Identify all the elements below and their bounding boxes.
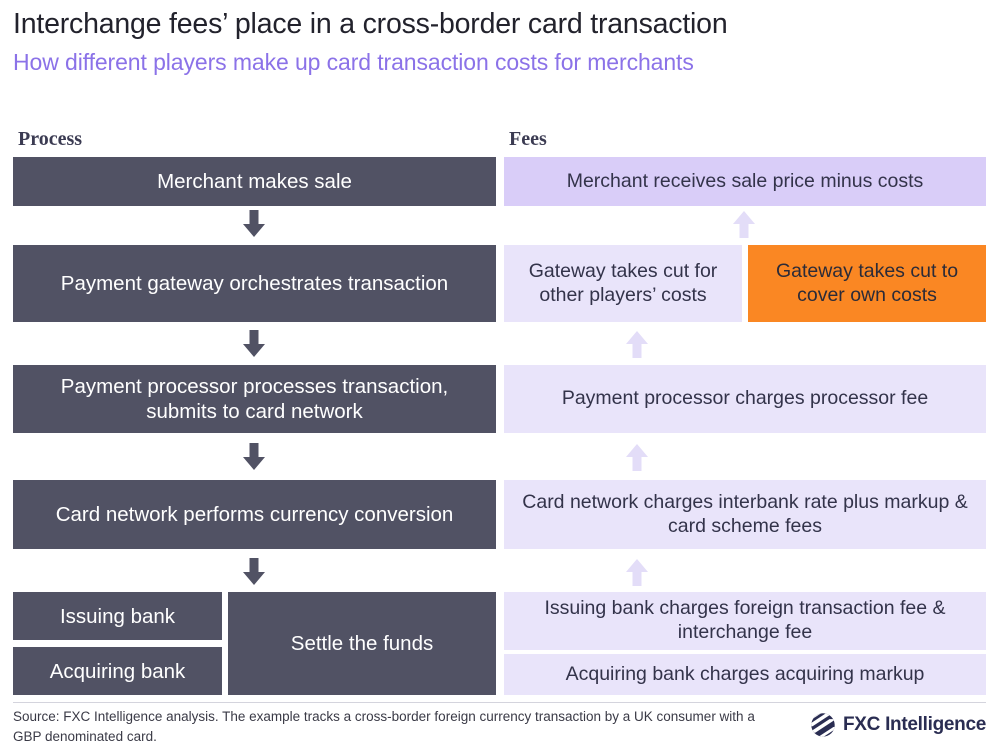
fxc-globe-logo-icon (810, 712, 836, 738)
fee-box-gateway-other-players: Gateway takes cut for other players’ cos… (504, 245, 742, 322)
fee-box-processor-fee: Payment processor charges processor fee (504, 365, 986, 433)
process-box-payment-processor: Payment processor processes transaction,… (13, 365, 496, 433)
arrow-up-icon-2 (623, 330, 651, 358)
process-box-settle-the-funds: Settle the funds (228, 592, 496, 695)
logo-wordmark: FXC Intelligence (843, 714, 986, 736)
arrow-down-icon-3 (240, 443, 268, 471)
process-box-issuing-bank: Issuing bank (13, 592, 222, 640)
fee-box-merchant-receives: Merchant receives sale price minus costs (504, 157, 986, 206)
fee-box-acquiring-bank-charges: Acquiring bank charges acquiring markup (504, 654, 986, 695)
arrow-down-icon-4 (240, 558, 268, 586)
arrow-down-icon-2 (240, 330, 268, 358)
arrow-down-icon-1 (240, 210, 268, 238)
page-subtitle: How different players make up card trans… (13, 49, 694, 76)
diagram-canvas: Interchange fees’ place in a cross-borde… (0, 0, 999, 749)
process-box-merchant-makes-sale: Merchant makes sale (13, 157, 496, 206)
process-box-payment-gateway: Payment gateway orchestrates transaction (13, 245, 496, 322)
arrow-up-icon-3 (623, 443, 651, 471)
process-box-card-network: Card network performs currency conversio… (13, 480, 496, 549)
column-header-fees: Fees (509, 128, 547, 151)
process-box-acquiring-bank: Acquiring bank (13, 647, 222, 695)
footer-divider (13, 702, 986, 703)
page-title: Interchange fees’ place in a cross-borde… (13, 8, 727, 41)
fxc-intelligence-logo: FXC Intelligence (810, 712, 986, 738)
source-note: Source: FXC Intelligence analysis. The e… (13, 707, 773, 746)
arrow-up-icon-4 (623, 558, 651, 586)
arrow-up-icon-1 (730, 210, 758, 238)
fee-box-gateway-own-costs: Gateway takes cut to cover own costs (748, 245, 986, 322)
fee-box-card-network-charges: Card network charges interbank rate plus… (504, 480, 986, 549)
fee-box-issuing-bank-charges: Issuing bank charges foreign transaction… (504, 592, 986, 650)
column-header-process: Process (18, 128, 82, 151)
